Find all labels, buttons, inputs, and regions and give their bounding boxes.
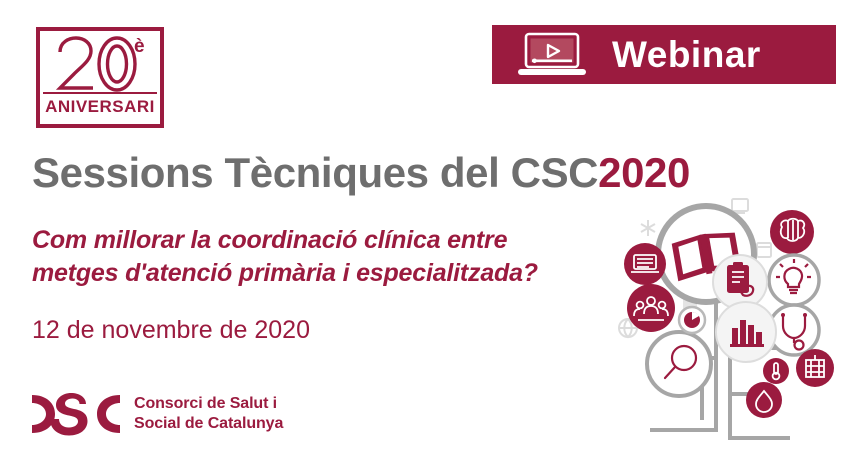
webinar-poster: è ANIVERSARI Webinar Sessio [0,0,850,476]
csc-monogram-icon [30,392,122,436]
anniversary-ordinal-icon: è [134,36,145,57]
svg-text:è: è [134,36,145,57]
csc-logo-text: Consorci de Salut i Social de Catalunya [134,394,283,433]
calendar-icon [757,243,771,257]
bar-chart-icon [716,302,776,362]
event-date: 12 de novembre de 2020 [32,318,310,343]
magnifier-icon [647,332,711,396]
blood-drop-icon [746,382,782,418]
anniversary-divider [43,92,157,94]
brain-icon [770,210,814,254]
lightbulb-icon [769,255,819,305]
hospital-building-icon [796,349,834,387]
anniversary-logo: è ANIVERSARI [36,27,164,128]
csc-logo-text-line-2: Social de Catalunya [134,414,283,434]
page-title-year: 2020 [598,149,690,196]
laptop-video-play-icon [492,31,612,79]
webinar-banner: Webinar [492,25,836,84]
clipboard-checklist-icon [713,255,767,309]
webinar-label: Webinar [612,36,761,73]
laptop-icon [624,243,666,285]
page-title: Sessions Tècniques del CSC2020 [32,152,690,194]
healthcare-knowledge-tree-illustration: .gstroke { fill:none; stroke:#A6A6A6; st… [612,198,850,446]
session-subtitle-line-2: metges d'atenció primària i especialitza… [32,257,572,290]
thermometer-icon [763,358,789,384]
asterisk-icon [641,220,655,236]
group-people-icon [627,284,675,332]
pie-chart-icon [679,307,705,333]
monitor-icon [732,199,748,213]
csc-logo: Consorci de Salut i Social de Catalunya [30,392,283,436]
session-subtitle: Com millorar la coordinació clínica entr… [32,224,572,289]
anniversary-number-icon: è [48,33,152,95]
page-title-main: Sessions Tècniques del CSC [32,149,598,196]
session-subtitle-line-1: Com millorar la coordinació clínica entr… [32,224,572,257]
csc-logo-text-line-1: Consorci de Salut i [134,394,283,414]
anniversary-word-label: ANIVERSARI [40,98,160,115]
